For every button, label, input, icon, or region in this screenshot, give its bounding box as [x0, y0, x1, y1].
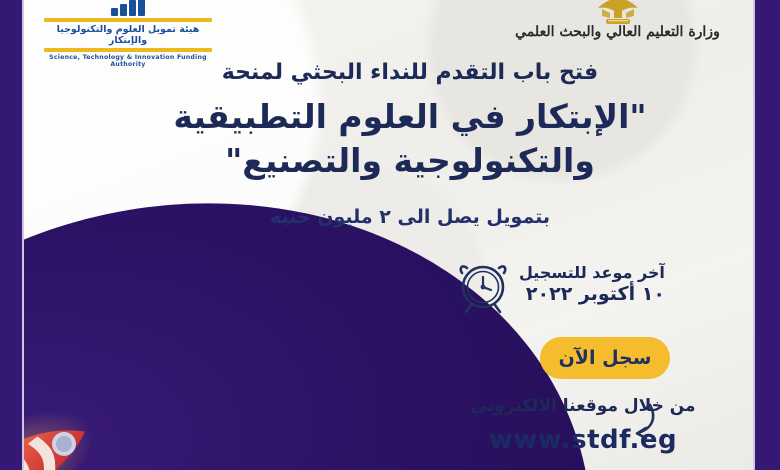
right-edge-bar [755, 0, 780, 470]
eagle-of-saladin-emblem [590, 0, 646, 26]
headline-line-2: "الإبتكار في العلوم التطبيقية والتكنولوج… [130, 95, 690, 183]
left-edge-line [22, 0, 24, 470]
stdf-logo: هيئة تمويل العلوم والتكنولوجيا والإبتكار… [38, 0, 218, 68]
deadline-date: ١٠ أكتوبر ٢٠٢٢ [519, 283, 665, 307]
stdf-logo-rule-top [44, 18, 212, 22]
right-edge-line [753, 0, 755, 470]
stdf-logo-mark [38, 0, 218, 16]
left-edge-bar [0, 0, 22, 470]
curved-arrow-icon [610, 402, 660, 442]
register-now-button[interactable]: سجل الآن [540, 337, 670, 379]
deadline-text: آخر موعد للتسجيل ١٠ أكتوبر ٢٠٢٢ [519, 263, 665, 307]
headline-subtitle: بتمويل يصل الى ٢ مليون جنيه [170, 206, 650, 228]
website-prefix: من خلال موقعنا الالكتروني [438, 396, 728, 416]
deadline-block: آخر موعد للتسجيل ١٠ أكتوبر ٢٠٢٢ [455, 256, 685, 314]
stdf-logo-rule-bottom [44, 48, 212, 52]
poster-root: هيئة تمويل العلوم والتكنولوجيا والإبتكار… [0, 0, 780, 470]
stdf-logo-arabic: هيئة تمويل العلوم والتكنولوجيا والإبتكار [38, 24, 218, 46]
headline-line-1: فتح باب التقدم للنداء البحثي لمنحة [150, 60, 670, 85]
stdf-logo-english: Science, Technology & Innovation Funding… [38, 54, 218, 68]
ministry-logo: وزارة التعليم العالي والبحث العلمي [510, 0, 725, 40]
ministry-logo-arabic: وزارة التعليم العالي والبحث العلمي [510, 24, 725, 40]
website-url-link[interactable]: www.stdf.eg [438, 425, 728, 455]
deadline-label: آخر موعد للتسجيل [519, 263, 665, 283]
alarm-clock-icon [455, 256, 511, 314]
